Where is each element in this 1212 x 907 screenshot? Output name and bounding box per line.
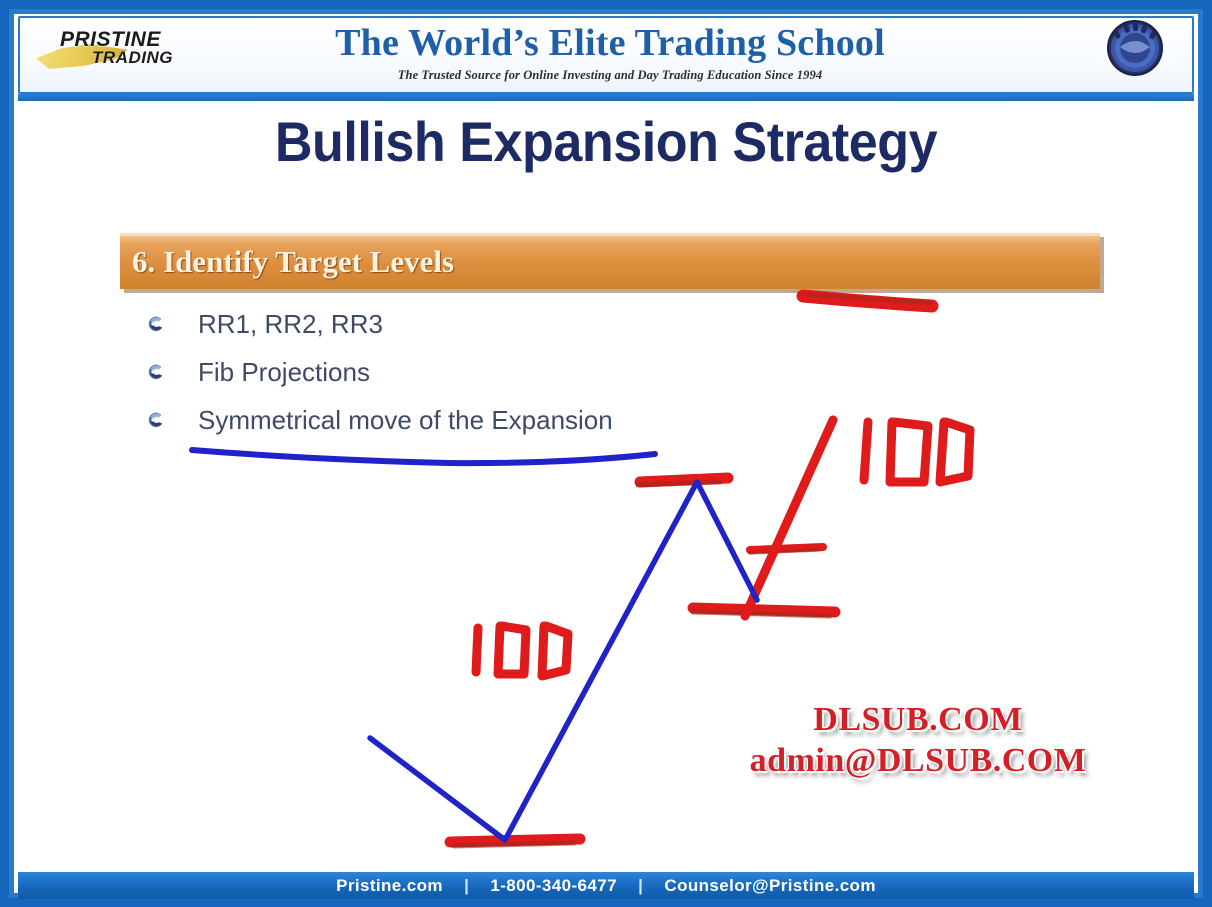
slide-title: Bullish Expansion Strategy [59,110,1153,174]
midpoint-tick-line [750,547,823,550]
swing-low-support-line [450,839,580,842]
pristine-seal-badge-icon [1104,17,1166,79]
midpoint-tick-shadow [750,550,818,553]
watermark: DLSUB.COM admin@DLSUB.COM [668,700,1168,782]
list-item: Fib Projections [146,352,906,400]
slide-canvas: PRISTINE TRADING The World’s Elite Tradi… [0,0,1212,907]
swirl-bullet-icon [146,410,166,430]
footer-bar: Pristine.com | 1-800-340-6477 | Counselo… [18,872,1194,899]
swing-high-resistance-line [640,478,728,482]
pullback-support-shadow [693,612,830,616]
footer-separator-2: | [638,876,643,896]
swing-high-resistance-shadow [638,482,720,485]
watermark-email: admin@DLSUB.COM [668,740,1168,782]
swirl-bullet-icon [146,314,166,334]
annotation-label-100-lower [476,626,568,676]
target-zone-mark-shadow [803,294,930,303]
swing-low-support-shadow [454,843,574,846]
pullback-support-line [693,608,835,612]
header-subtitle: The Trusted Source for Online Investing … [240,68,980,83]
watermark-site: DLSUB.COM [668,700,1168,740]
bullet-label: Fib Projections [198,352,370,392]
underline-stroke [192,450,655,463]
logo-text-line2: TRADING [92,48,173,68]
list-item: Symmetrical move of the Expansion [146,400,906,448]
header-divider-rule [18,94,1194,101]
section-header-label: 6. Identify Target Levels [132,241,454,283]
list-item: RR1, RR2, RR3 [146,304,906,352]
header-title: The World’s Elite Trading School [240,22,980,64]
footer-email[interactable]: Counselor@Pristine.com [664,876,875,895]
footer-separator-1: | [464,876,469,896]
pristine-logo: PRISTINE TRADING [36,22,221,78]
footer-phone[interactable]: 1-800-340-6477 [490,876,617,895]
bullet-label: Symmetrical move of the Expansion [198,400,613,440]
bullet-label: RR1, RR2, RR3 [198,304,383,344]
price-path-stroke [370,482,757,840]
swirl-bullet-icon [146,362,166,382]
symmetry-projection-line [745,420,833,616]
footer-contact-line: Pristine.com | 1-800-340-6477 | Counselo… [336,876,876,896]
section-header-bar: 6. Identify Target Levels [120,233,1100,289]
slide-body: Bullish Expansion Strategy 6. Identify T… [18,104,1194,870]
bullet-list: RR1, RR2, RR3 Fib Projections [146,304,906,448]
footer-website[interactable]: Pristine.com [336,876,443,895]
